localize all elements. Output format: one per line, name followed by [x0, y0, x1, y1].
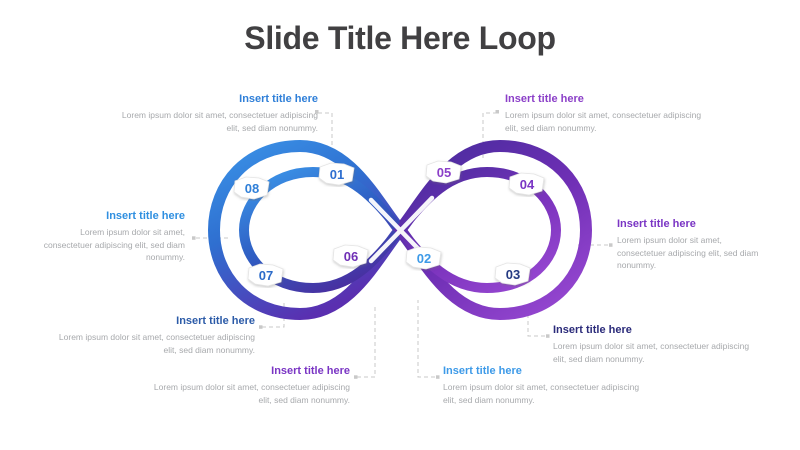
step-tag-label: 01: [330, 167, 344, 182]
step-tag-02[interactable]: 02: [404, 245, 444, 271]
text-block-title: Insert title here: [55, 315, 255, 328]
step-tag-03[interactable]: 03: [493, 261, 533, 287]
text-block-body: Lorem ipsum dolor sit amet, consectetuer…: [33, 226, 185, 263]
infinity-loop-graphic: [200, 130, 600, 330]
text-block-bottom-left-2[interactable]: Insert title here Lorem ipsum dolor sit …: [150, 365, 350, 406]
step-tag-label: 03: [506, 267, 520, 282]
text-block-title: Insert title here: [33, 210, 185, 223]
step-tag-label: 07: [259, 268, 273, 283]
text-block-title: Insert title here: [617, 218, 769, 231]
text-block-body: Lorem ipsum dolor sit amet, consectetuer…: [617, 234, 769, 271]
step-tag-08[interactable]: 08: [232, 175, 272, 201]
text-block-body: Lorem ipsum dolor sit amet, consectetuer…: [505, 109, 705, 134]
step-tag-label: 02: [417, 251, 431, 266]
text-block-bottom-left-1[interactable]: Insert title here Lorem ipsum dolor sit …: [55, 315, 255, 356]
slide-canvas: Slide Title Here Loop: [0, 0, 800, 450]
text-block-top-left[interactable]: Insert title here Lorem ipsum dolor sit …: [118, 93, 318, 134]
step-tag-07[interactable]: 07: [246, 262, 286, 288]
text-block-title: Insert title here: [505, 93, 705, 106]
text-block-right[interactable]: Insert title here Lorem ipsum dolor sit …: [617, 218, 769, 271]
text-block-left[interactable]: Insert title here Lorem ipsum dolor sit …: [33, 210, 185, 263]
text-block-title: Insert title here: [553, 324, 753, 337]
text-block-title: Insert title here: [443, 365, 643, 378]
step-tag-06[interactable]: 06: [331, 243, 371, 269]
text-block-title: Insert title here: [118, 93, 318, 106]
text-block-bottom-right-2[interactable]: Insert title here Lorem ipsum dolor sit …: [553, 324, 753, 365]
step-tag-01[interactable]: 01: [317, 161, 357, 187]
step-tag-label: 04: [520, 177, 534, 192]
step-tag-label: 08: [245, 181, 259, 196]
text-block-body: Lorem ipsum dolor sit amet, consectetuer…: [443, 381, 643, 406]
text-block-title: Insert title here: [150, 365, 350, 378]
text-block-body: Lorem ipsum dolor sit amet, consectetuer…: [553, 340, 753, 365]
step-tag-04[interactable]: 04: [507, 171, 547, 197]
text-block-body: Lorem ipsum dolor sit amet, consectetuer…: [55, 331, 255, 356]
step-tag-label: 06: [344, 249, 358, 264]
text-block-bottom-right-1[interactable]: Insert title here Lorem ipsum dolor sit …: [443, 365, 643, 406]
text-block-body: Lorem ipsum dolor sit amet, consectetuer…: [118, 109, 318, 134]
text-block-body: Lorem ipsum dolor sit amet, consectetuer…: [150, 381, 350, 406]
step-tag-label: 05: [437, 165, 451, 180]
page-title: Slide Title Here Loop: [0, 20, 800, 57]
step-tag-05[interactable]: 05: [424, 159, 464, 185]
text-block-top-right[interactable]: Insert title here Lorem ipsum dolor sit …: [505, 93, 705, 134]
